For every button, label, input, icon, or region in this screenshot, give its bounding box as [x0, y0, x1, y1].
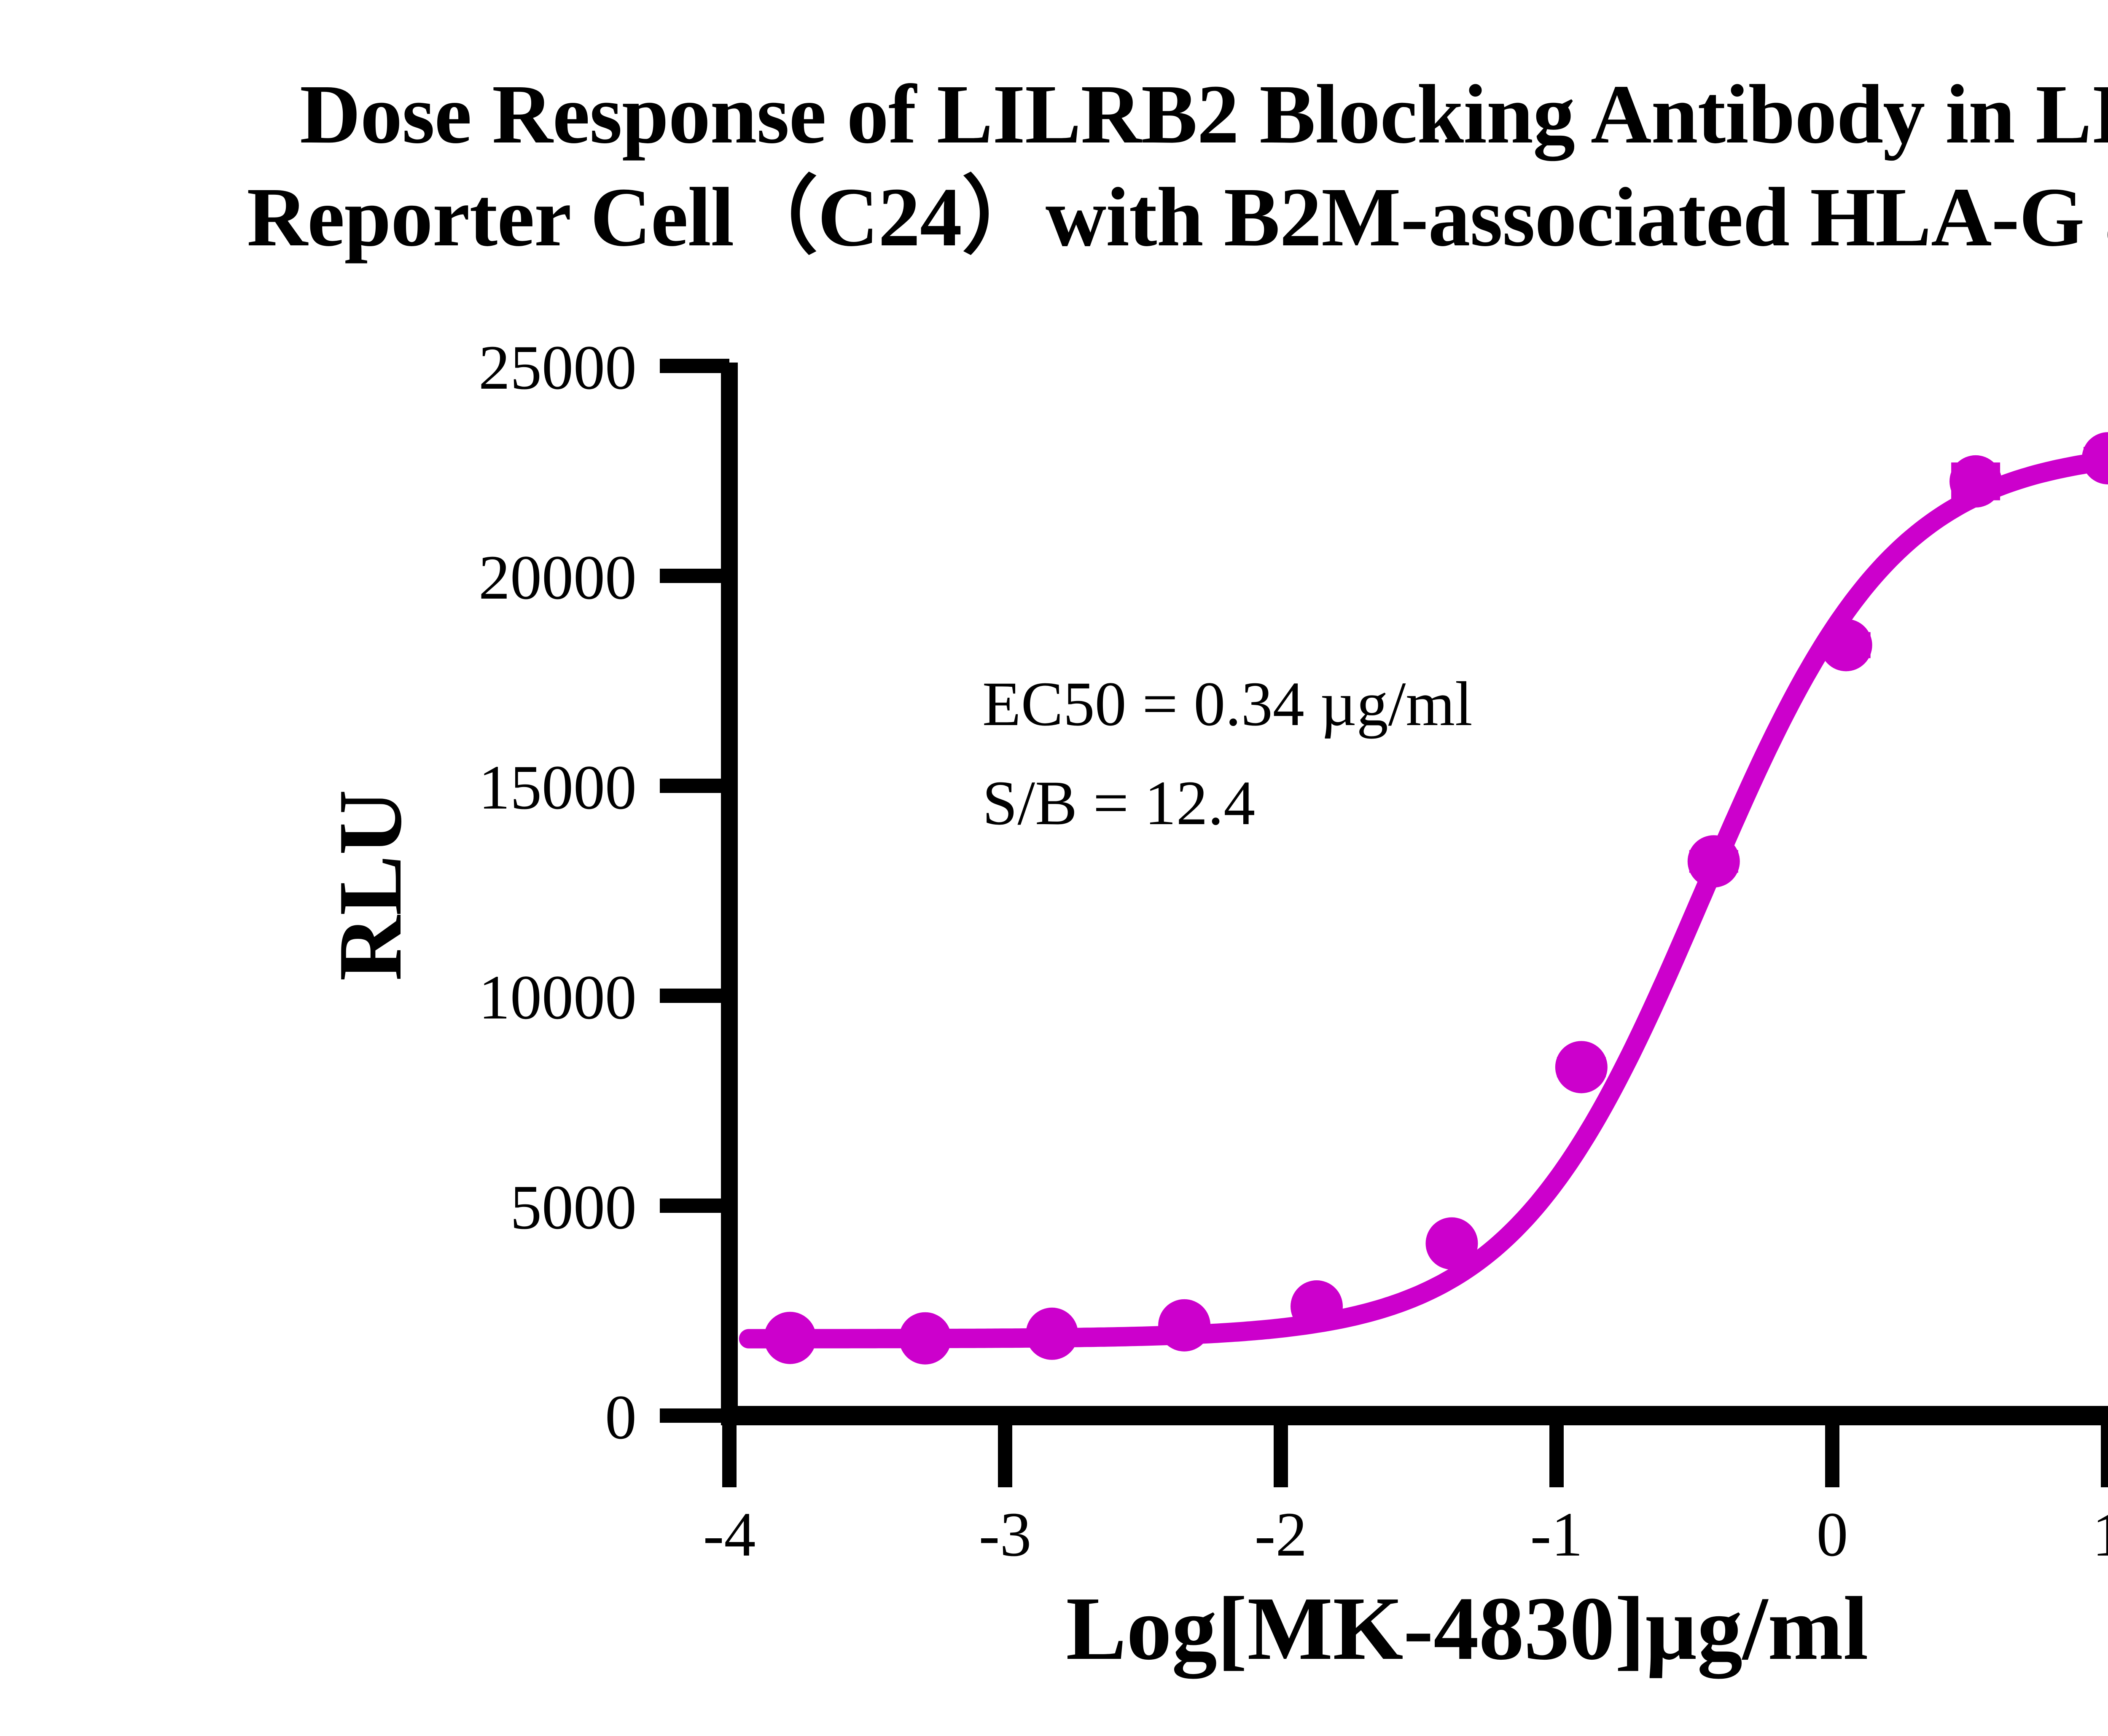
data-point — [1820, 619, 1872, 671]
y-tick-label: 10000 — [479, 962, 637, 1032]
data-point — [1291, 1280, 1343, 1333]
y-axis-ticks — [660, 366, 729, 1416]
fit-curve — [749, 460, 2108, 1338]
y-axis-title: RLU — [320, 790, 420, 981]
x-tick-label: -1 — [1530, 1500, 1583, 1569]
x-axis-title: Log[MK-4830]µg/ml — [1066, 1578, 1868, 1679]
data-point — [1158, 1299, 1210, 1352]
y-tick-label: 15000 — [479, 752, 637, 822]
data-point — [1688, 835, 1740, 887]
y-tick-label: 5000 — [510, 1172, 637, 1242]
chart-canvas: Dose Response of LILRB2 Blocking Antibod… — [0, 0, 2108, 1736]
x-tick-label: 0 — [1817, 1500, 1848, 1569]
data-point — [2082, 432, 2108, 484]
error-bars — [766, 452, 2108, 1341]
data-point — [1425, 1217, 1478, 1270]
x-tick-label: 1 — [2092, 1500, 2108, 1569]
y-tick-label: 25000 — [479, 333, 637, 403]
x-tick-label: -2 — [1255, 1500, 1307, 1569]
data-point — [899, 1312, 951, 1365]
y-tick-label: 0 — [605, 1382, 637, 1452]
data-point — [1026, 1308, 1078, 1360]
data-point — [1949, 455, 2002, 508]
data-markers — [764, 432, 2108, 1365]
x-axis-ticks — [729, 1416, 2108, 1487]
y-tick-label: 20000 — [479, 543, 637, 613]
plot-area: 0500010000150002000025000 -4-3-2-101 RLU… — [0, 0, 2108, 1736]
data-point — [764, 1312, 816, 1364]
annotation-sb: S/B = 12.4 — [982, 768, 1255, 838]
data-point — [1555, 1041, 1608, 1093]
x-tick-label: -3 — [979, 1500, 1032, 1569]
y-axis-tick-labels: 0500010000150002000025000 — [479, 333, 637, 1452]
x-tick-label: -4 — [703, 1500, 756, 1569]
x-axis-tick-labels: -4-3-2-101 — [703, 1500, 2108, 1569]
annotation-ec50: EC50 = 0.34 µg/ml — [982, 669, 1473, 739]
